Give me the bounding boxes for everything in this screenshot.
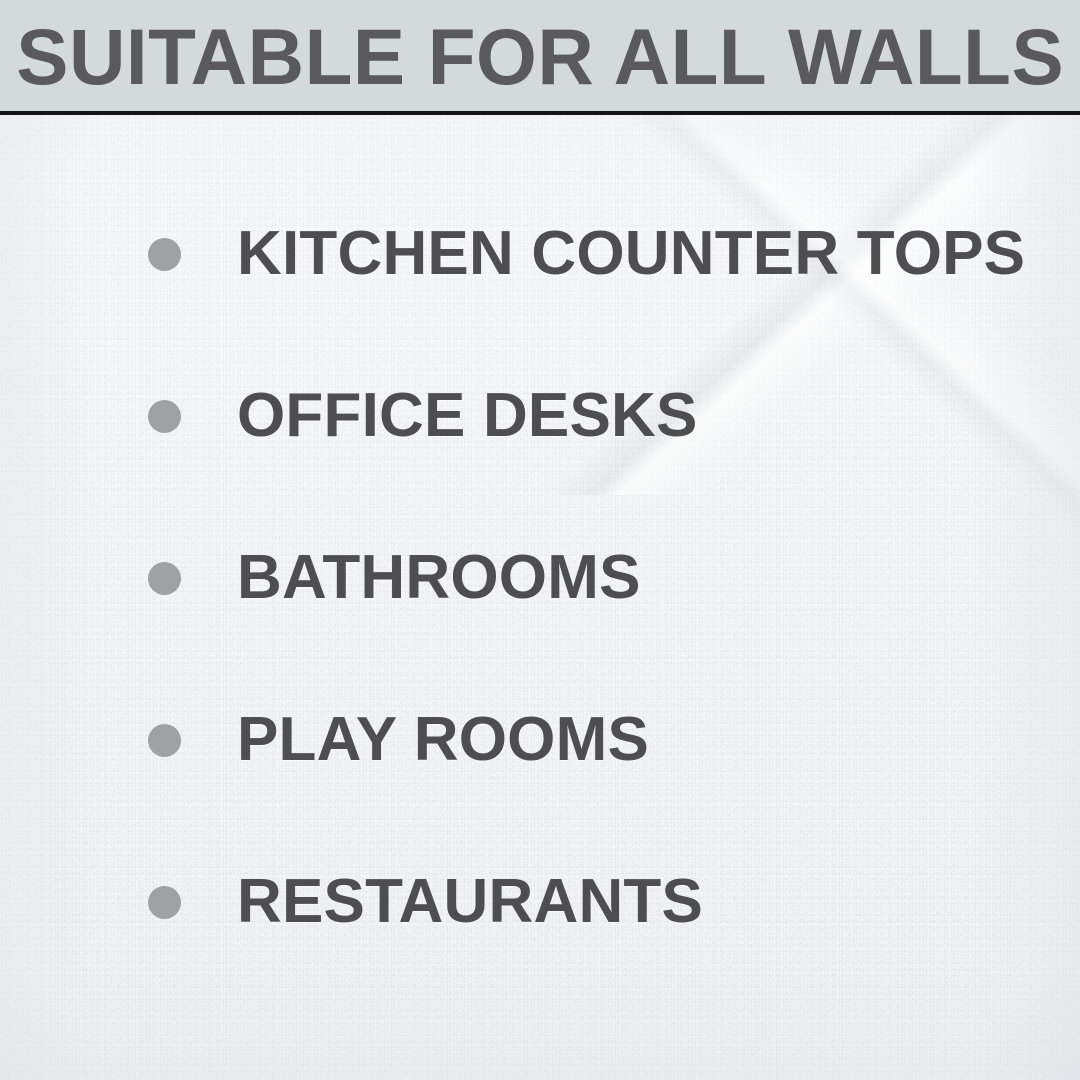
- feature-label: RESTAURANTS: [237, 871, 703, 933]
- feature-label: BATHROOMS: [237, 547, 641, 609]
- list-item: PLAY ROOMS: [148, 702, 649, 778]
- list-item: OFFICE DESKS: [148, 378, 698, 454]
- list-item: RESTAURANTS: [148, 864, 703, 940]
- bullet-dot-icon: [148, 562, 181, 595]
- bullet-dot-icon: [148, 886, 181, 919]
- feature-label: OFFICE DESKS: [237, 385, 698, 447]
- feature-label: KITCHEN COUNTER TOPS: [237, 223, 1025, 285]
- header-band: SUITABLE FOR ALL WALLS: [0, 0, 1080, 111]
- list-item: BATHROOMS: [148, 540, 641, 616]
- bullet-dot-icon: [148, 724, 181, 757]
- diagonal-crease-secondary: [560, 115, 1080, 605]
- textured-background-panel: KITCHEN COUNTER TOPS OFFICE DESKS BATHRO…: [0, 115, 1080, 1080]
- bullet-dot-icon: [148, 400, 181, 433]
- product-feature-banner: SUITABLE FOR ALL WALLS KITCHEN COUNTER T…: [0, 0, 1080, 1080]
- bullet-dot-icon: [148, 238, 181, 271]
- feature-label: PLAY ROOMS: [237, 709, 649, 771]
- page-title: SUITABLE FOR ALL WALLS: [16, 17, 1064, 96]
- list-item: KITCHEN COUNTER TOPS: [148, 216, 1025, 292]
